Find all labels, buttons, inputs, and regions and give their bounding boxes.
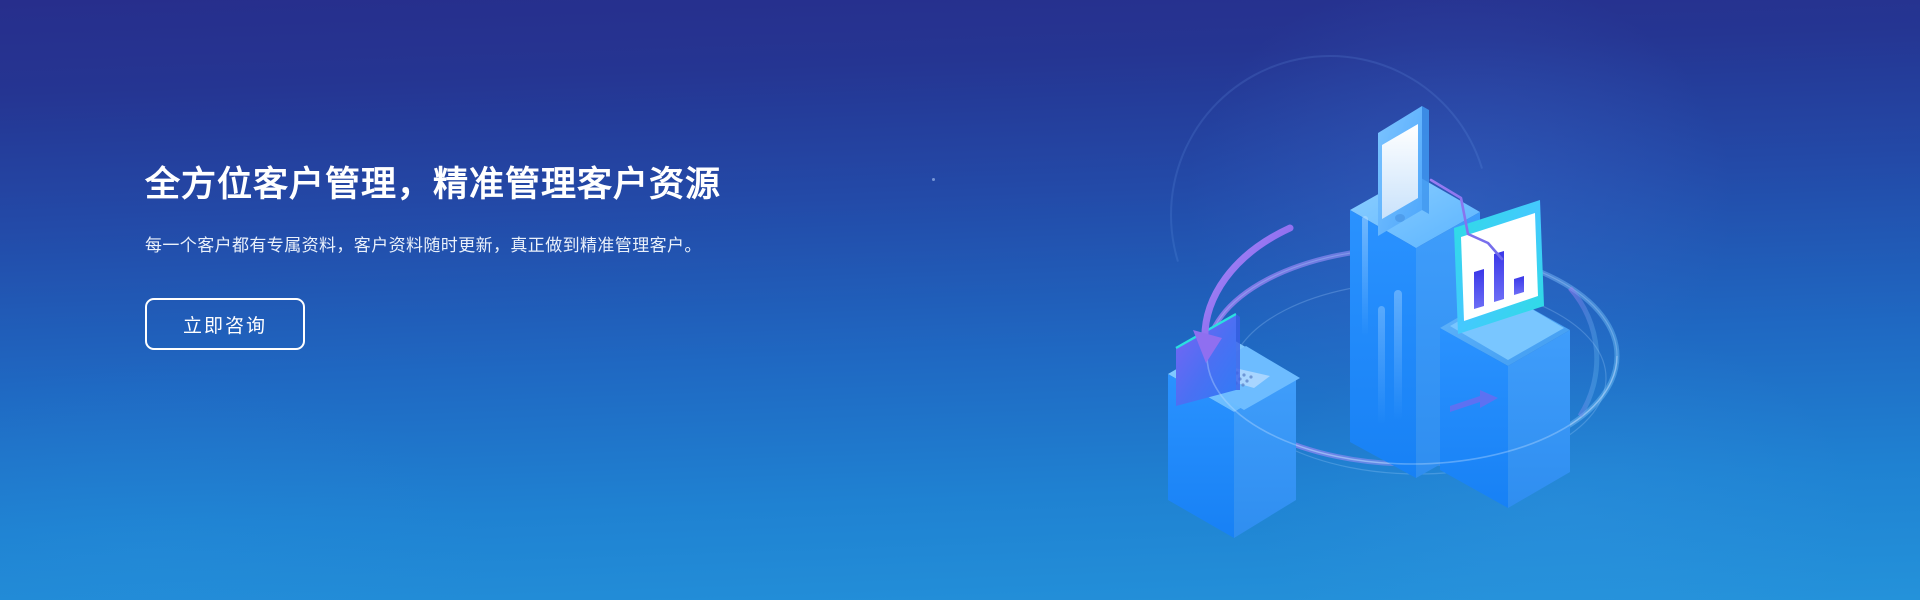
hero-banner: 全方位客户管理，精准管理客户资源 每一个客户都有专属资料，客户资料随时更新，真正… <box>0 0 1920 600</box>
page-title: 全方位客户管理，精准管理客户资源 <box>145 163 785 207</box>
background-speck-dot <box>932 178 935 181</box>
hero-subcopy: 每一个客户都有专属资料，客户资料随时更新，真正做到精准管理客户。 <box>145 232 745 260</box>
hero-copy-block: 全方位客户管理，精准管理客户资源 每一个客户都有专属资料，客户资料随时更新，真正… <box>145 163 785 350</box>
consult-now-button[interactable]: 立即咨询 <box>145 298 305 350</box>
hero-illustration <box>1150 38 1670 568</box>
